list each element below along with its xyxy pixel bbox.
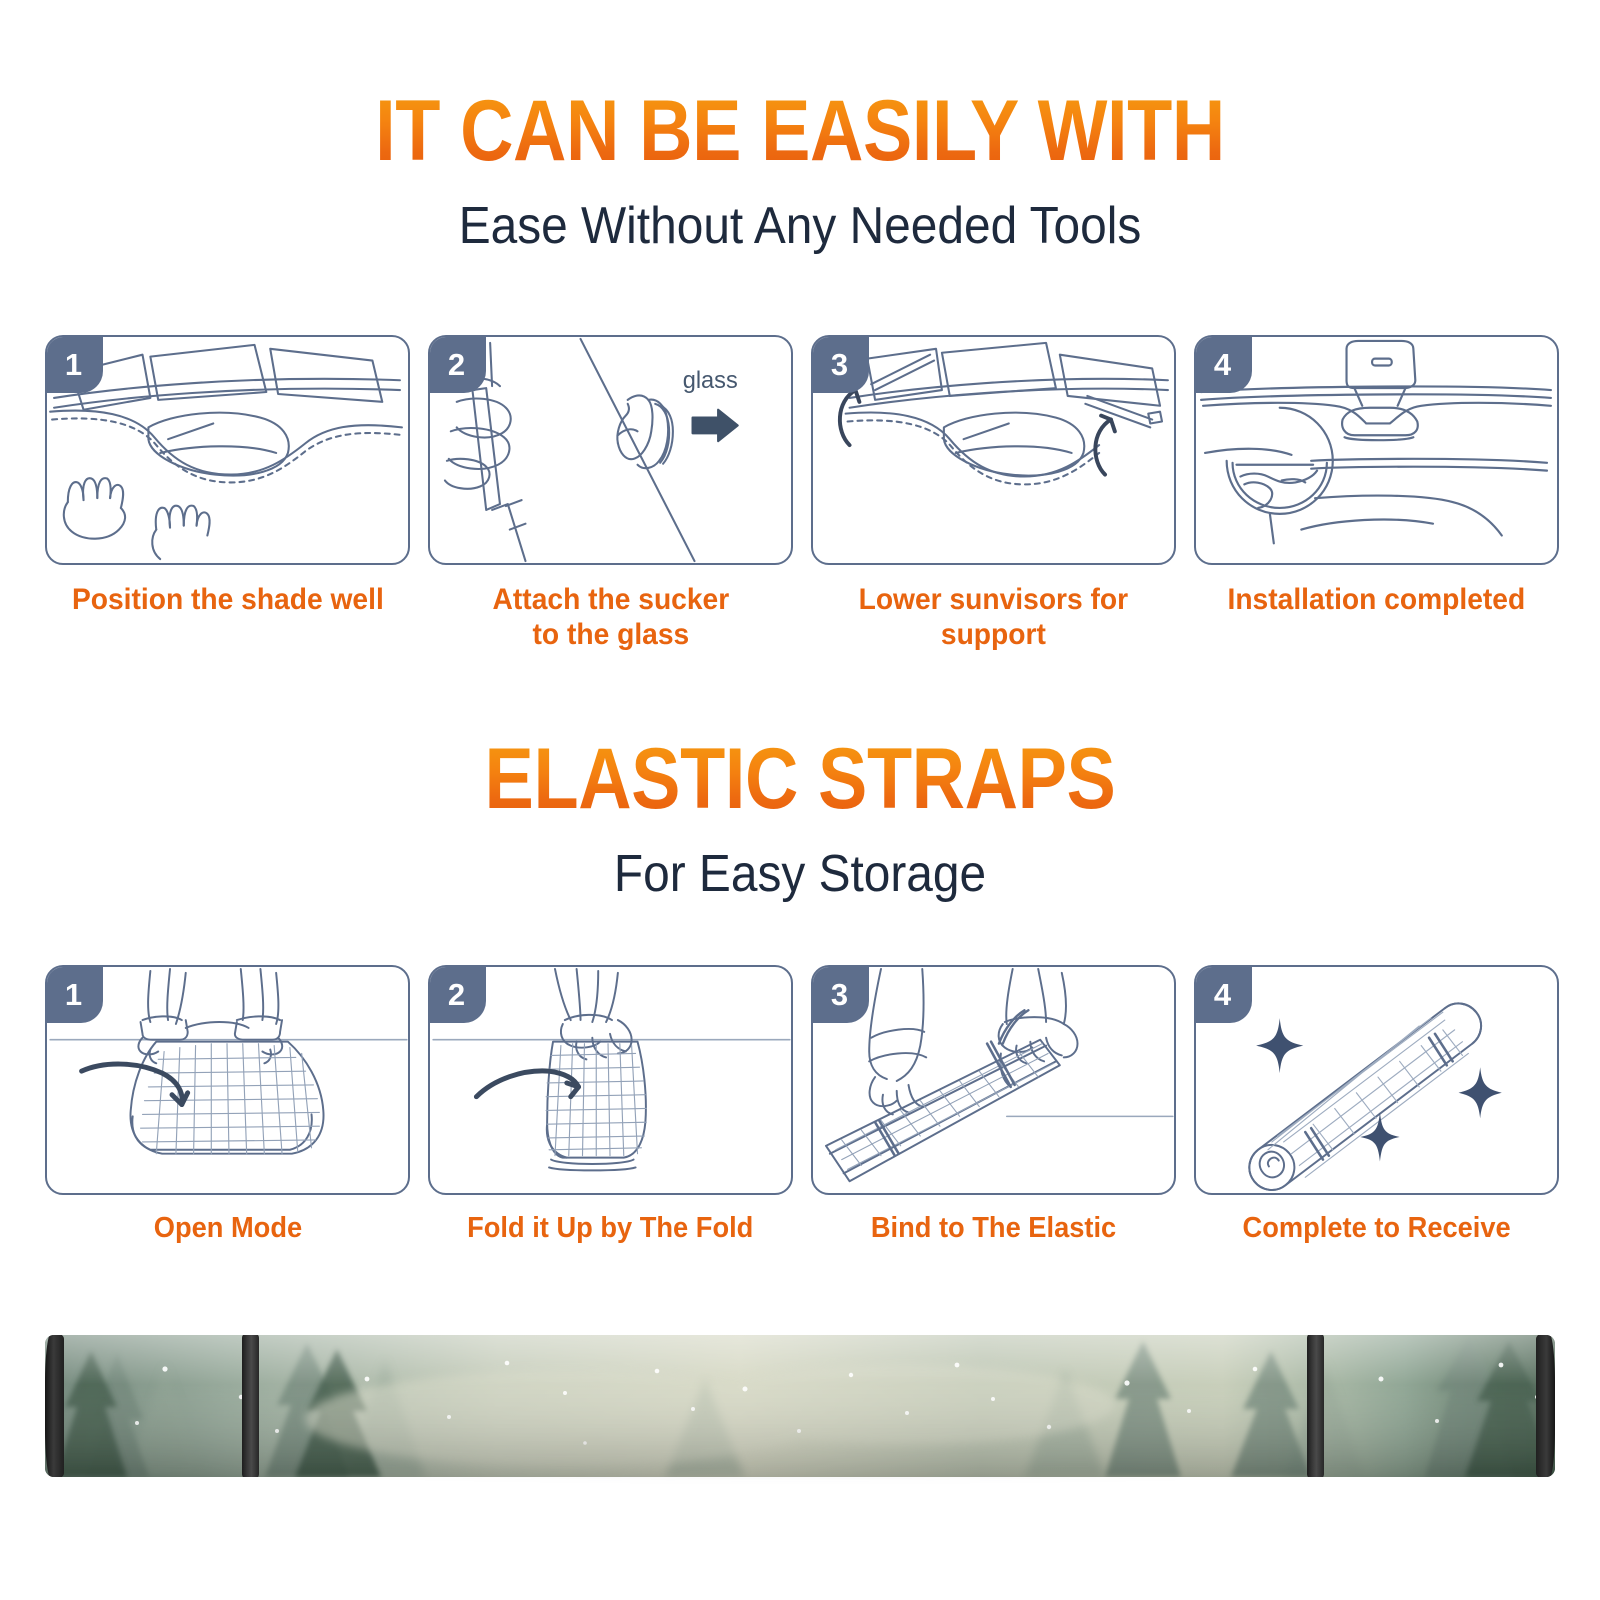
step-number-badge: 1	[46, 336, 103, 393]
glass-label: glass	[683, 367, 738, 393]
step-number-badge: 2	[429, 336, 486, 393]
forest-pattern-artwork	[45, 1335, 1555, 1477]
step-number-badge: 1	[46, 966, 103, 1023]
storage-steps-row: 1	[45, 965, 1555, 1246]
storage-subtitle: For Easy Storage	[64, 848, 1536, 900]
step-card-install-4[interactable]: 4	[1194, 335, 1559, 565]
step-number-badge: 4	[1195, 966, 1252, 1023]
step-caption-install-3: Lower sunvisors for support	[859, 582, 1129, 652]
storage-title: ELASTIC STRAPS	[112, 736, 1488, 822]
step-cell-install-3: 3	[811, 335, 1176, 652]
step-number-badge: 2	[429, 966, 486, 1023]
step-cell-storage-1: 1	[45, 965, 410, 1246]
roll-body	[45, 1335, 1555, 1477]
step-cell-install-2: 2	[428, 335, 793, 652]
step-caption-install-4: Installation completed	[1228, 582, 1526, 617]
step-card-storage-4[interactable]: 4	[1194, 965, 1559, 1195]
storage-section-heading: ELASTIC STRAPS For Easy Storage	[0, 736, 1600, 900]
installation-title: IT CAN BE EASILY WITH	[112, 88, 1488, 174]
roll-edge-left	[45, 1335, 64, 1477]
step-caption-storage-2: Fold it Up by The Fold	[467, 1212, 753, 1246]
step-cell-storage-3: 3	[811, 965, 1176, 1246]
step-cell-install-4: 4	[1194, 335, 1559, 652]
step-caption-install-2: Attach the sucker to the glass	[492, 582, 729, 652]
step-cell-install-1: 1	[45, 335, 410, 652]
elastic-strap	[1307, 1335, 1324, 1477]
sparkle-icon	[1256, 1018, 1502, 1161]
rolled-sun-shade-product	[45, 1335, 1555, 1477]
step-cell-storage-2: 2	[428, 965, 793, 1246]
roll-edge-right	[1536, 1335, 1555, 1477]
installation-subtitle: Ease Without Any Needed Tools	[64, 200, 1536, 252]
step-card-install-1[interactable]: 1	[45, 335, 410, 565]
step-caption-storage-3: Bind to The Elastic	[871, 1212, 1116, 1246]
step-card-storage-1[interactable]: 1	[45, 965, 410, 1195]
step-card-install-3[interactable]: 3	[811, 335, 1176, 565]
step-cell-storage-4: 4	[1194, 965, 1559, 1246]
elastic-strap	[242, 1335, 259, 1477]
step-caption-storage-4: Complete to Receive	[1242, 1212, 1510, 1246]
step-number-badge: 3	[812, 336, 869, 393]
installation-steps-row: 1	[45, 335, 1555, 652]
step-card-install-2[interactable]: 2	[428, 335, 793, 565]
step-number-badge: 3	[812, 966, 869, 1023]
step-card-storage-3[interactable]: 3	[811, 965, 1176, 1195]
step-caption-install-1: Position the shade well	[72, 582, 384, 617]
installation-section-heading: IT CAN BE EASILY WITH Ease Without Any N…	[0, 88, 1600, 252]
step-caption-storage-1: Open Mode	[153, 1212, 301, 1246]
step-number-badge: 4	[1195, 336, 1252, 393]
step-card-storage-2[interactable]: 2	[428, 965, 793, 1195]
